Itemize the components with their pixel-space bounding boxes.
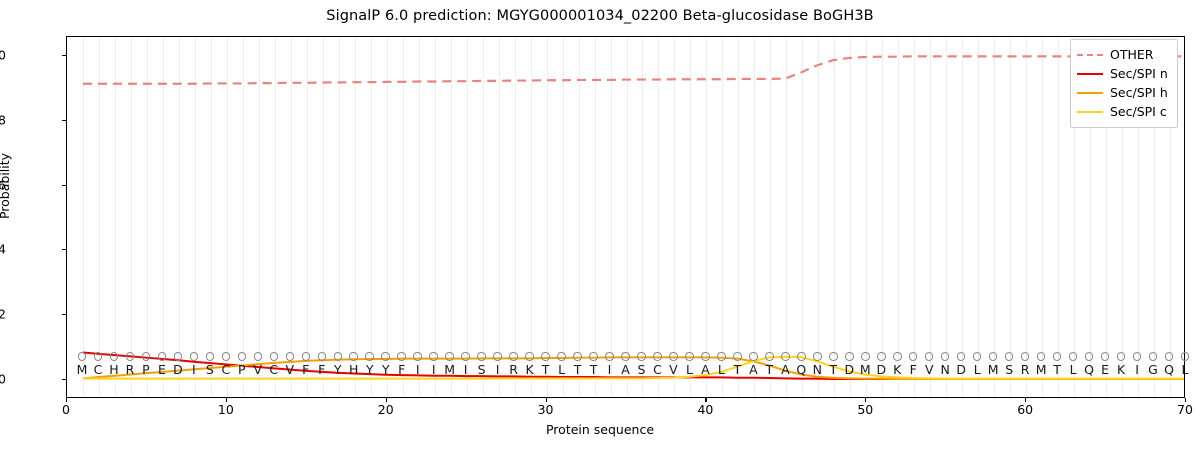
x-tick-label: 40 (680, 402, 730, 417)
x-tick-mark (386, 398, 387, 402)
legend-item[interactable]: Sec/SPI h (1077, 83, 1171, 102)
legend-item[interactable]: Sec/SPI n (1077, 64, 1171, 83)
y-tick-label: 0.6 (0, 177, 6, 192)
series-line-other (83, 56, 1184, 83)
y-tick-label: 0.0 (0, 371, 6, 386)
x-tick-mark (705, 398, 706, 402)
y-tick-label: 0.2 (0, 306, 6, 321)
x-tick-mark (226, 398, 227, 402)
x-tick-label: 60 (1000, 402, 1050, 417)
legend-item[interactable]: Sec/SPI c (1077, 102, 1171, 121)
x-tick-label: 50 (840, 402, 890, 417)
legend-color-swatch (1077, 69, 1103, 79)
x-tick-label: 30 (521, 402, 571, 417)
legend-label: Sec/SPI c (1110, 104, 1167, 119)
legend-color-swatch (1077, 107, 1103, 117)
chart-title: SignalP 6.0 prediction: MGYG000001034_02… (0, 8, 1200, 24)
legend-label: Sec/SPI n (1110, 66, 1168, 81)
x-tick-label: 10 (201, 402, 251, 417)
x-tick-mark (66, 398, 67, 402)
series-line-sec-spi-c (83, 357, 1184, 379)
legend: OTHERSec/SPI nSec/SPI hSec/SPI c (1070, 39, 1178, 128)
y-tick-label: 1.0 (0, 48, 6, 63)
x-tick-label: 20 (361, 402, 411, 417)
x-tick-label: 0 (41, 402, 91, 417)
legend-item[interactable]: OTHER (1077, 45, 1171, 64)
plot-area (66, 36, 1185, 398)
y-tick-label: 0.4 (0, 242, 6, 257)
curves-layer (67, 37, 1184, 398)
legend-color-swatch (1077, 50, 1103, 60)
signalp-prediction-figure: SignalP 6.0 prediction: MGYG000001034_02… (0, 0, 1200, 450)
x-axis-label: Protein sequence (0, 422, 1200, 437)
x-tick-mark (546, 398, 547, 402)
series-line-sec-spi-h (83, 357, 1184, 379)
legend-label: OTHER (1110, 47, 1153, 62)
y-tick-label: 0.8 (0, 113, 6, 128)
x-tick-mark (1185, 398, 1186, 402)
x-tick-mark (865, 398, 866, 402)
x-tick-mark (1025, 398, 1026, 402)
legend-color-swatch (1077, 88, 1103, 98)
x-tick-label: 70 (1160, 402, 1200, 417)
legend-label: Sec/SPI h (1110, 85, 1168, 100)
